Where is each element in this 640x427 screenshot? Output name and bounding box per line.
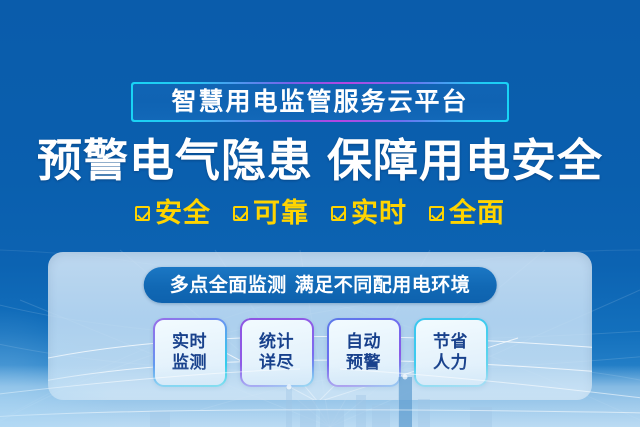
check-item-reliable: 可靠 [233, 200, 309, 227]
platform-title-inner: 智慧用电监管服务云平台 [133, 84, 507, 120]
feature-card-inner: 自动 预警 [329, 320, 399, 385]
feature-card-inner: 实时 监测 [155, 320, 225, 385]
subtitle-part-1: 多点全面监测 [170, 275, 287, 296]
page-title: 预警电气隐患保障用电安全 [0, 137, 640, 186]
checkbox-checked-icon [135, 206, 150, 221]
check-item-comprehensive: 全面 [429, 200, 505, 227]
check-item-realtime: 实时 [331, 200, 407, 227]
feature-card-line-1: 实时 [172, 332, 207, 351]
subtitle-part-2: 满足不同配用电环境 [295, 275, 471, 296]
checkbox-checked-icon [233, 206, 248, 221]
platform-title-box: 智慧用电监管服务云平台 [131, 82, 509, 122]
features-panel: 多点全面监测满足不同配用电环境 实时 监测 统计 详尽 自动 预警 [48, 252, 592, 400]
check-label: 全面 [449, 200, 505, 227]
feature-card-inner: 节省 人力 [416, 320, 486, 385]
feature-card-line-1: 统计 [259, 332, 294, 351]
feature-card-line-2: 详尽 [259, 353, 294, 372]
check-label: 实时 [351, 200, 407, 227]
feature-cards: 实时 监测 统计 详尽 自动 预警 节省 人力 [48, 316, 592, 388]
feature-card-line-2: 监测 [172, 353, 207, 372]
feature-card-line-2: 预警 [346, 353, 381, 372]
checkbox-checked-icon [331, 206, 346, 221]
headline-part-2: 保障用电安全 [327, 135, 603, 186]
panel-subtitle-text: 多点全面监测满足不同配用电环境 [170, 276, 471, 295]
checkbox-checked-icon [429, 206, 444, 221]
feature-card-line-2: 人力 [433, 353, 468, 372]
panel-subtitle-pill: 多点全面监测满足不同配用电环境 [144, 267, 497, 303]
feature-card-automatic-alarm[interactable]: 自动 预警 [327, 318, 401, 387]
promo-poster: 智慧用电监管服务云平台 预警电气隐患保障用电安全 安全 可靠 实时 全面 [0, 0, 640, 427]
feature-card-line-1: 节省 [433, 332, 468, 351]
feature-card-save-manpower[interactable]: 节省 人力 [414, 318, 488, 387]
platform-title-text: 智慧用电监管服务云平台 [171, 90, 468, 115]
headline-part-1: 预警电气隐患 [37, 135, 313, 186]
check-label: 安全 [155, 200, 211, 227]
feature-card-inner: 统计 详尽 [242, 320, 312, 385]
feature-check-row: 安全 可靠 实时 全面 [0, 200, 640, 227]
check-item-security: 安全 [135, 200, 211, 227]
feature-card-detailed-statistics[interactable]: 统计 详尽 [240, 318, 314, 387]
feature-card-line-1: 自动 [346, 332, 381, 351]
feature-card-realtime-monitoring[interactable]: 实时 监测 [153, 318, 227, 387]
check-label: 可靠 [253, 200, 309, 227]
